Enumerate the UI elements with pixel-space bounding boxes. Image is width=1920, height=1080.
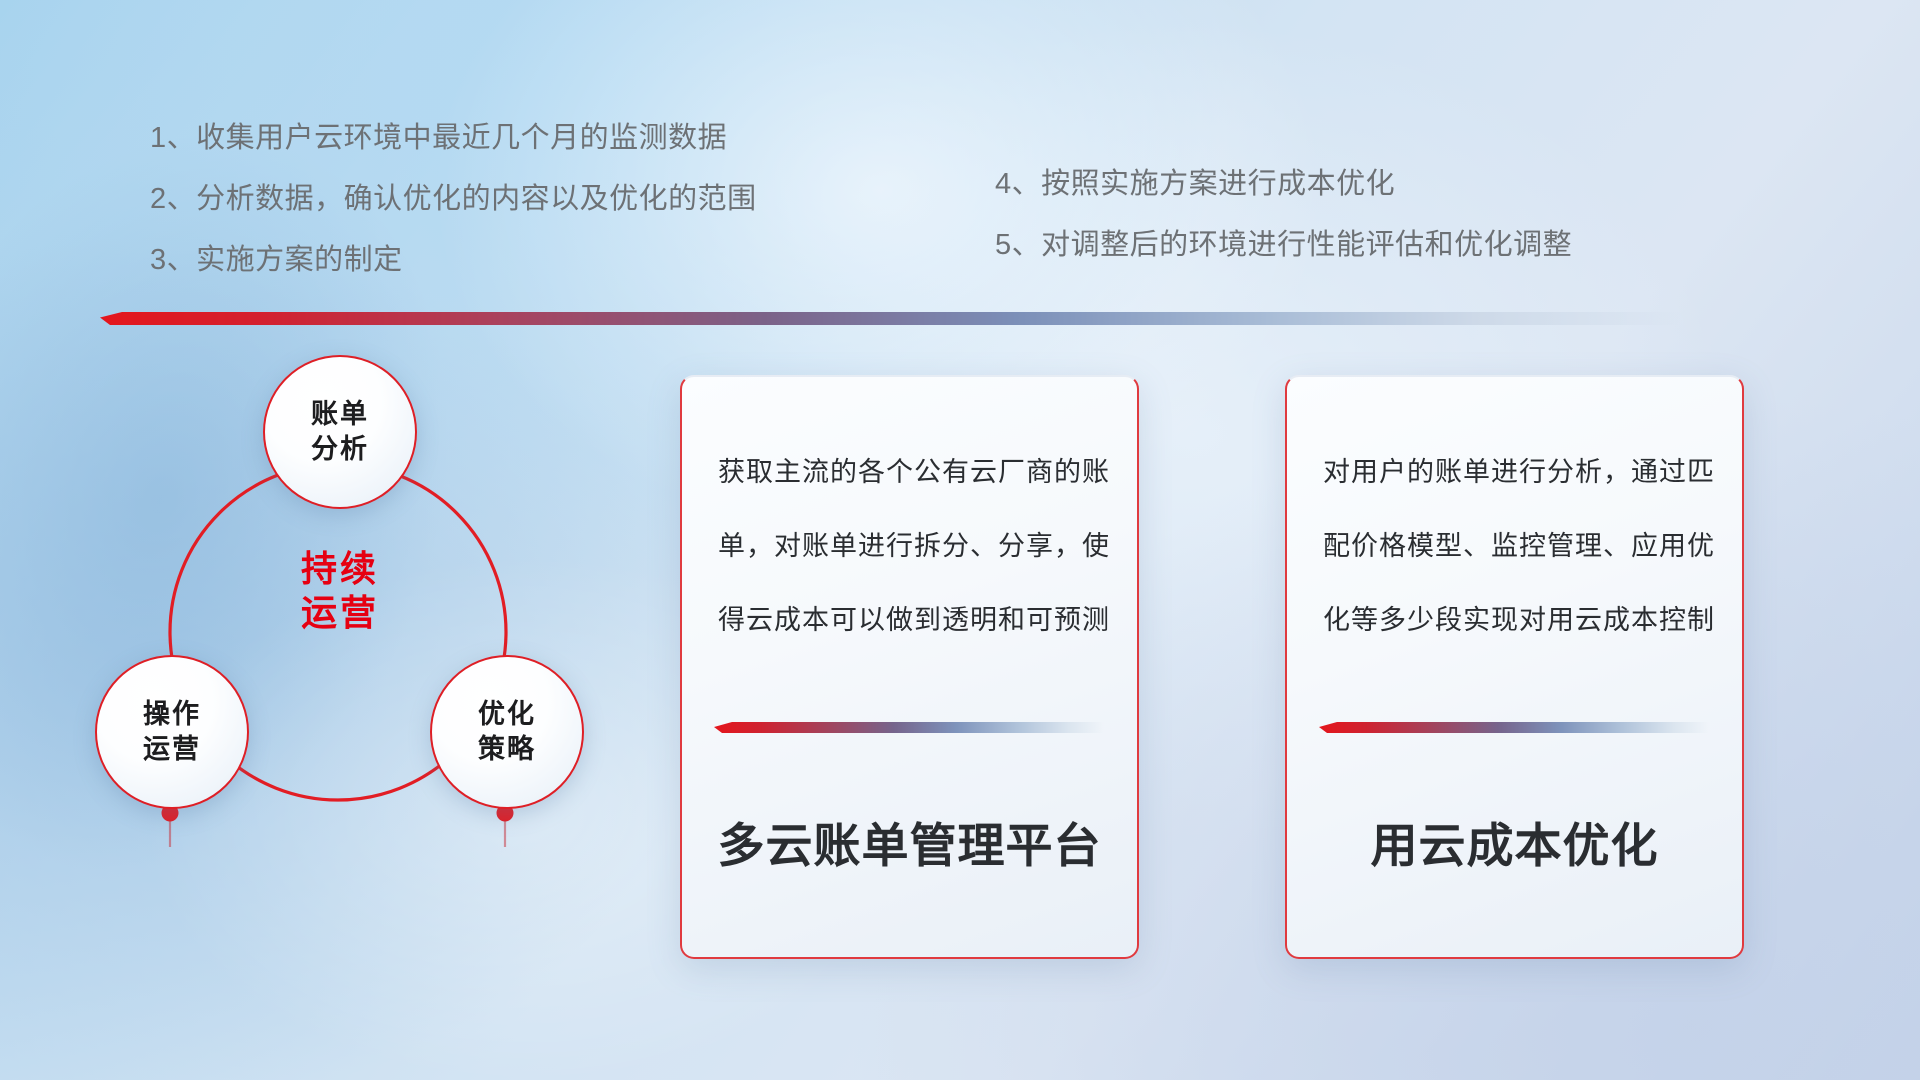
card-body-text: 获取主流的各个公有云厂商的账单，对账单进行拆分、分享，使得云成本可以做到透明和可… [718,435,1113,657]
node-label-line2: 策略 [478,732,536,767]
card-body-text: 对用户的账单进行分析，通过匹配价格模型、监控管理、应用优化等多少段实现对用云成本… [1323,435,1718,657]
card-title: 多云账单管理平台 [682,807,1137,876]
steps-left-column: 1、收集用户云环境中最近几个月的监测数据 2、分析数据，确认优化的内容以及优化的… [150,108,757,291]
card-cloud-cost-optimization[interactable]: 对用户的账单进行分析，通过匹配价格模型、监控管理、应用优化等多少段实现对用云成本… [1285,375,1744,959]
node-label-line1: 账单 [311,397,369,432]
step-item-4: 4、按照实施方案进行成本优化 [995,154,1572,215]
step-item-2: 2、分析数据，确认优化的内容以及优化的范围 [150,169,757,230]
diagram-node-optimization-strategy[interactable]: 优化 策略 [430,655,584,809]
card-multi-cloud-billing-platform[interactable]: 获取主流的各个公有云厂商的账单，对账单进行拆分、分享，使得云成本可以做到透明和可… [680,375,1139,959]
card-accent-rule [1319,722,1709,733]
section-divider [100,312,1680,325]
diagram-node-operation-management[interactable]: 操作 运营 [95,655,249,809]
continuous-operation-diagram: 账单 分析 操作 运营 优化 策略 持续 运营 [95,355,655,955]
step-item-3: 3、实施方案的制定 [150,230,757,291]
slide-canvas: 1、收集用户云环境中最近几个月的监测数据 2、分析数据，确认优化的内容以及优化的… [0,0,1920,1080]
diagram-node-bill-analysis[interactable]: 账单 分析 [263,355,417,509]
node-label-line1: 优化 [478,697,536,732]
card-title: 用云成本优化 [1287,807,1742,876]
step-item-1: 1、收集用户云环境中最近几个月的监测数据 [150,108,757,169]
steps-right-column: 4、按照实施方案进行成本优化 5、对调整后的环境进行性能评估和优化调整 [995,154,1572,276]
node-label-line1: 操作 [143,697,201,732]
node-label-line2: 分析 [311,432,369,467]
card-accent-rule [714,722,1104,733]
steps-section: 1、收集用户云环境中最近几个月的监测数据 2、分析数据，确认优化的内容以及优化的… [0,108,1920,298]
node-label-line2: 运营 [143,732,201,767]
step-item-5: 5、对调整后的环境进行性能评估和优化调整 [995,215,1572,276]
center-label-line1: 持续 [255,547,425,591]
center-label-line2: 运营 [255,591,425,635]
diagram-center-label: 持续 运营 [255,547,425,635]
